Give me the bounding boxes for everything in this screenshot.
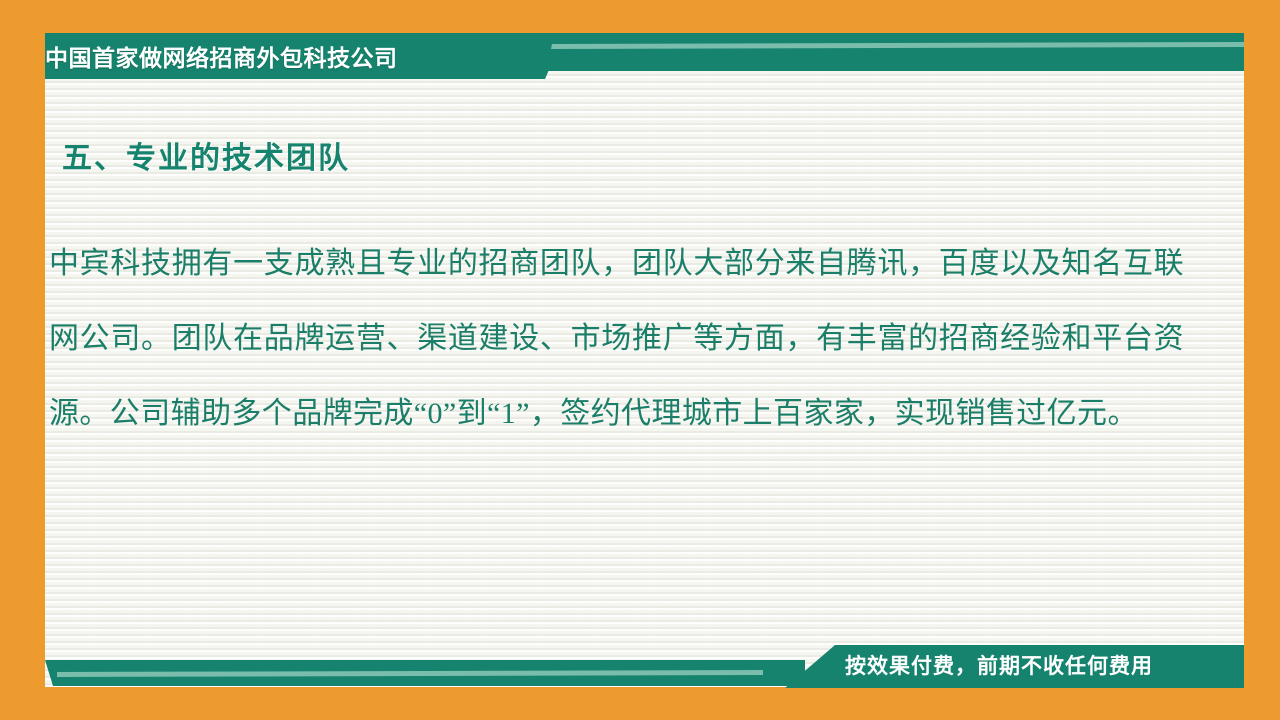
header-title-wrap: 中国首家做网络招商外包科技公司 xyxy=(45,33,565,79)
footer-slogan-text: 按效果付费，前期不收任何费用 xyxy=(845,650,1153,680)
footer-slogan-wrap: 按效果付费，前期不收任何费用 xyxy=(845,645,1225,685)
body-paragraph-block: 中宾科技拥有一支成熟且专业的招商团队，团队大部分来自腾讯，百度以及知名互联网公司… xyxy=(49,226,1184,451)
body-paragraph: 中宾科技拥有一支成熟且专业的招商团队，团队大部分来自腾讯，百度以及知名互联网公司… xyxy=(49,226,1184,451)
header-title-text: 中国首家做网络招商外包科技公司 xyxy=(45,39,398,73)
slide-canvas: 中国首家做网络招商外包科技公司 五、专业的技术团队 中宾科技拥有一支成熟且专业的… xyxy=(0,0,1280,720)
section-heading: 五、专业的技术团队 xyxy=(62,133,350,177)
